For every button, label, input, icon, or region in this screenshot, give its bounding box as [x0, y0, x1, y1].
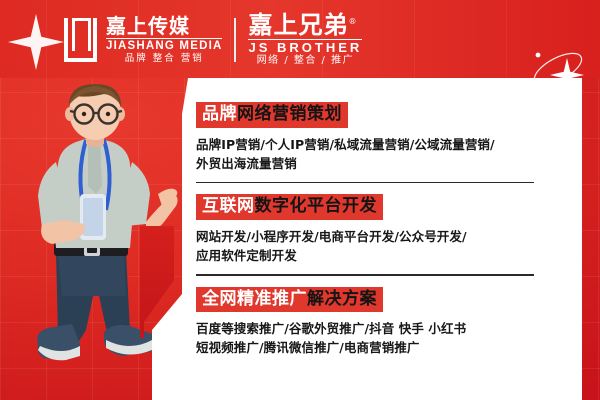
- section-2-highlight: 互联网: [202, 196, 255, 216]
- section-3-body: 百度等搜索推广/谷歌外贸推广/抖音 快手 小红书 短视频推广/腾讯微信推广/电商…: [196, 319, 542, 357]
- section-heading-2: 互联网数字化平台开发: [196, 194, 383, 220]
- section-divider-2: [196, 274, 534, 275]
- sparkle-star-orbit-icon: [524, 44, 588, 94]
- service-section-branding: 品牌网络营销策划 品牌IP营销/个人IP营销/私域流量营销/公域流量营销/ 外贸…: [196, 102, 542, 173]
- bracket-monogram-icon: [64, 18, 97, 62]
- section-heading-1: 品牌网络营销策划: [196, 102, 348, 128]
- header-banner: 嘉上传媒 JIASHANG MEDIA 品牌 整合 营销 嘉上兄弟® JS BR…: [0, 0, 600, 78]
- section-3-highlight: 全网精准推广: [202, 289, 307, 309]
- logo-right-tagline: 网络 / 整合 / 推广: [248, 55, 362, 67]
- section-2-line-2: 应用软件定制开发: [196, 246, 542, 265]
- content-panel: 品牌网络营销策划 品牌IP营销/个人IP营销/私域流量营销/公域流量营销/ 外贸…: [152, 78, 582, 400]
- logo-divider: [234, 18, 236, 62]
- logo-right-en: JS BROTHER: [248, 39, 362, 56]
- logo-js-brother: 嘉上兄弟® JS BROTHER 网络 / 整合 / 推广: [248, 13, 362, 68]
- section-1-highlight: 品牌: [202, 104, 237, 124]
- logo-right-cn-wrap: 嘉上兄弟®: [248, 13, 362, 37]
- service-section-promotion: 全网精准推广解决方案 百度等搜索推广/谷歌外贸推广/抖音 快手 小红书 短视频推…: [196, 287, 542, 358]
- logo-left-tagline: 品牌 整合 营销: [106, 53, 222, 64]
- section-1-body: 品牌IP营销/个人IP营销/私域流量营销/公域流量营销/ 外贸出海流量营销: [196, 135, 542, 173]
- section-2-body: 网站开发/小程序开发/电商平台开发/公众号开发/ 应用软件定制开发: [196, 227, 542, 265]
- section-3-rest: 解决方案: [307, 289, 377, 309]
- poster-canvas: 嘉上传媒 JIASHANG MEDIA 品牌 整合 营销 嘉上兄弟® JS BR…: [0, 0, 600, 400]
- logo-right-cn: 嘉上兄弟: [248, 11, 348, 39]
- sparkle-star-icon: [8, 14, 64, 70]
- section-2-rest: 数字化平台开发: [255, 196, 378, 216]
- section-1-line-2: 外贸出海流量营销: [196, 154, 542, 173]
- sparkle-star-glyph: [550, 58, 584, 92]
- section-3-line-2: 短视频推广/腾讯微信推广/电商营销推广: [196, 338, 542, 357]
- brand-logo-lockup[interactable]: 嘉上传媒 JIASHANG MEDIA 品牌 整合 营销 嘉上兄弟® JS BR…: [64, 12, 362, 68]
- section-divider-1: [196, 182, 534, 183]
- section-2-line-1: 网站开发/小程序开发/电商平台开发/公众号开发/: [196, 227, 542, 246]
- trademark-symbol: ®: [348, 17, 357, 26]
- service-section-platform: 互联网数字化平台开发 网站开发/小程序开发/电商平台开发/公众号开发/ 应用软件…: [196, 194, 542, 265]
- logo-jiashang-media: 嘉上传媒 JIASHANG MEDIA 品牌 整合 营销: [106, 16, 222, 65]
- section-heading-3: 全网精准推广解决方案: [196, 287, 383, 313]
- logo-left-cn: 嘉上传媒: [106, 16, 222, 36]
- section-3-line-1: 百度等搜索推广/谷歌外贸推广/抖音 快手 小红书: [196, 319, 542, 338]
- section-1-line-1: 品牌IP营销/个人IP营销/私域流量营销/公域流量营销/: [196, 135, 542, 154]
- services-list: 品牌网络营销策划 品牌IP营销/个人IP营销/私域流量营销/公域流量营销/ 外贸…: [196, 102, 542, 357]
- section-1-rest: 网络营销策划: [237, 104, 342, 124]
- logo-left-en: JIASHANG MEDIA: [106, 38, 222, 53]
